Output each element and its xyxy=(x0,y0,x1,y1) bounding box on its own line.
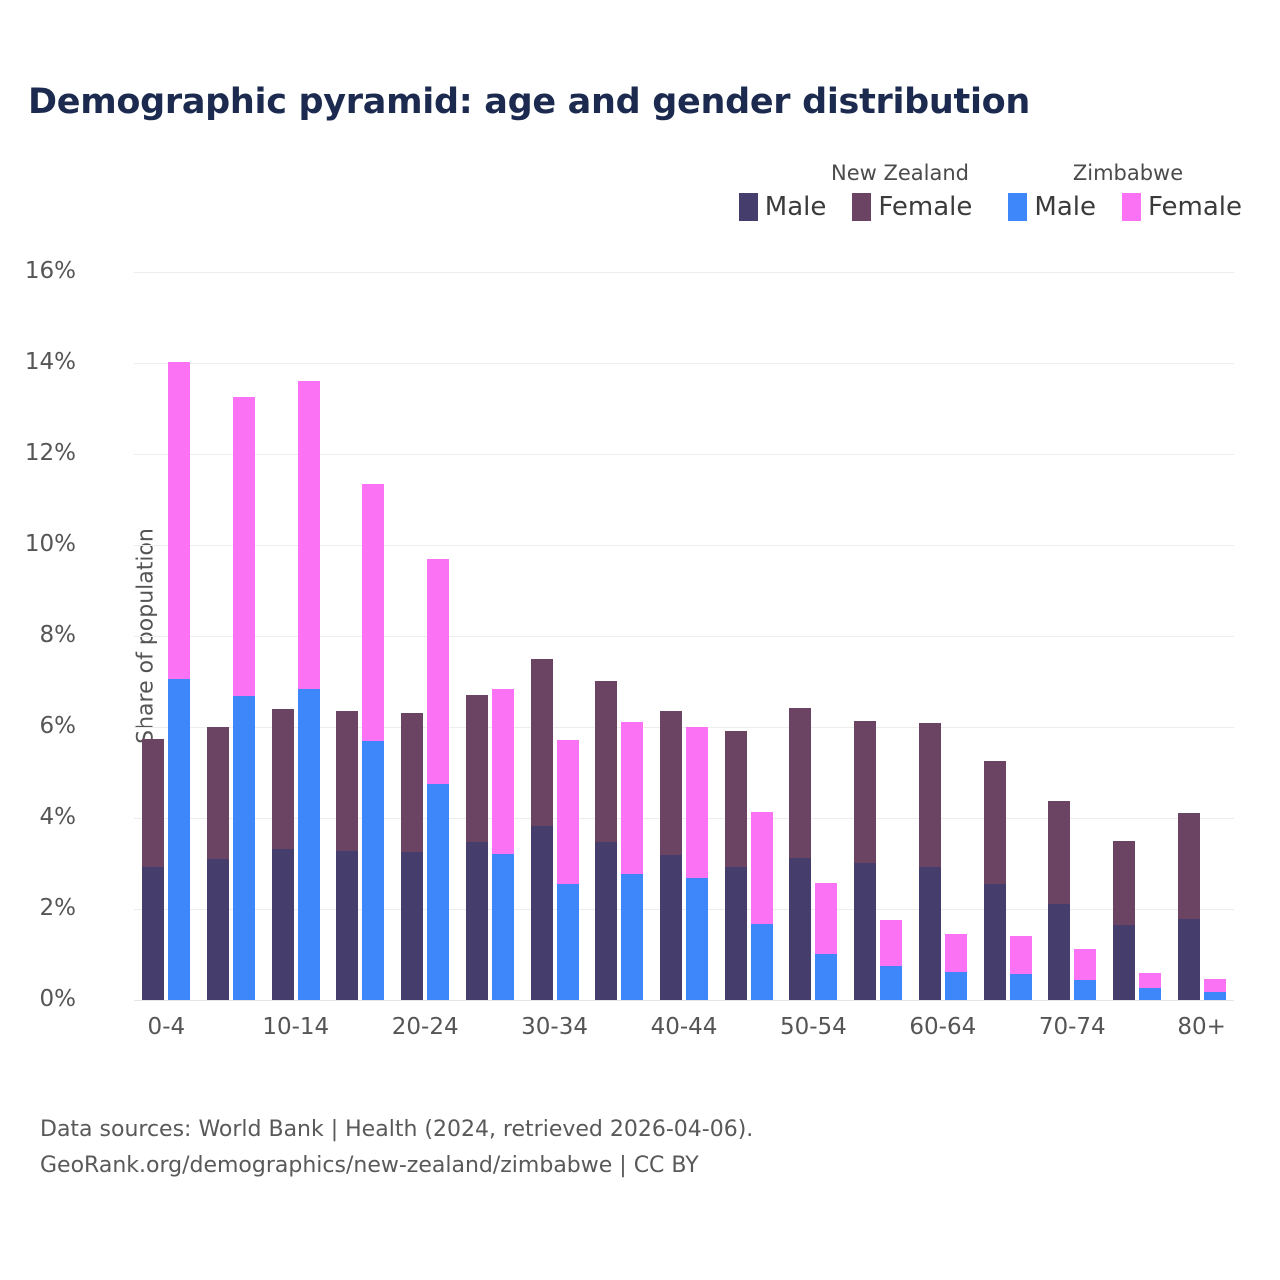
bar-segment-female xyxy=(531,659,553,826)
bar-new-zealand[interactable] xyxy=(272,709,294,1000)
bar-group[interactable] xyxy=(207,272,255,1000)
y-axis-tick-label: 4% xyxy=(0,804,76,830)
bar-zimbabwe[interactable] xyxy=(751,812,773,1000)
bar-zimbabwe[interactable] xyxy=(492,689,514,1000)
bar-group[interactable] xyxy=(401,272,449,1000)
bar-zimbabwe[interactable] xyxy=(1010,936,1032,1000)
legend-label: Male xyxy=(765,194,827,220)
legend-group-title-zimbabwe: Zimbabwe xyxy=(1014,161,1242,185)
bar-new-zealand[interactable] xyxy=(595,681,617,1000)
bar-new-zealand[interactable] xyxy=(336,711,358,1000)
chart-legend: New Zealand Zimbabwe Male Female Male Fe… xyxy=(739,155,1242,221)
footer-line-sources: Data sources: World Bank | Health (2024,… xyxy=(40,1112,753,1148)
bar-segment-female xyxy=(919,723,941,867)
bar-new-zealand[interactable] xyxy=(854,721,876,1000)
legend-item-zw-male[interactable]: Male xyxy=(1008,193,1096,221)
bar-segment-female xyxy=(168,362,190,679)
bar-segment-female xyxy=(789,708,811,857)
bar-group[interactable] xyxy=(336,272,384,1000)
bar-segment-male xyxy=(984,884,1006,1000)
legend-label: Female xyxy=(878,194,972,220)
x-axis-tick-label: 50-54 xyxy=(780,1014,847,1040)
bar-zimbabwe[interactable] xyxy=(880,920,902,1000)
bar-segment-male xyxy=(725,867,747,1000)
legend-item-nz-female[interactable]: Female xyxy=(852,193,972,221)
legend-label: Male xyxy=(1034,194,1096,220)
bar-segment-male xyxy=(815,954,837,1000)
page-title: Demographic pyramid: age and gender dist… xyxy=(28,82,1030,122)
footer-line-license[interactable]: GeoRank.org/demographics/new-zealand/zim… xyxy=(40,1148,753,1184)
bar-segment-male xyxy=(1139,988,1161,1000)
bar-segment-male xyxy=(207,859,229,1001)
bar-segment-male xyxy=(362,741,384,1000)
bar-segment-male xyxy=(427,784,449,1000)
bar-new-zealand[interactable] xyxy=(142,739,164,1000)
bar-group[interactable] xyxy=(1113,272,1161,1000)
y-axis-tick-label: 12% xyxy=(0,440,76,466)
bar-group[interactable] xyxy=(725,272,773,1000)
bar-zimbabwe[interactable] xyxy=(686,727,708,1000)
y-axis-tick-label: 14% xyxy=(0,349,76,375)
bar-segment-male xyxy=(919,867,941,1000)
bar-segment-male xyxy=(789,858,811,1000)
bar-segment-female xyxy=(233,397,255,696)
bar-segment-male xyxy=(168,679,190,1000)
bar-segment-female xyxy=(401,713,423,852)
bar-new-zealand[interactable] xyxy=(660,711,682,1000)
bar-zimbabwe[interactable] xyxy=(557,740,579,1000)
bar-zimbabwe[interactable] xyxy=(1139,973,1161,1000)
bar-segment-female xyxy=(466,695,488,842)
bar-segment-male xyxy=(854,863,876,1000)
bar-zimbabwe[interactable] xyxy=(945,934,967,1000)
bar-segment-male xyxy=(298,689,320,1000)
bar-new-zealand[interactable] xyxy=(1048,801,1070,1000)
x-axis-tick-label: 80+ xyxy=(1177,1014,1226,1040)
bar-segment-female xyxy=(880,920,902,966)
bar-segment-female xyxy=(336,711,358,851)
legend-swatch-icon xyxy=(739,193,758,221)
bar-group[interactable] xyxy=(789,272,837,1000)
bar-segment-male xyxy=(595,842,617,1000)
bar-zimbabwe[interactable] xyxy=(427,559,449,1000)
legend-group-title-new-zealand: New Zealand xyxy=(786,161,1014,185)
bar-segment-male xyxy=(621,874,643,1000)
bar-segment-male xyxy=(1178,919,1200,1000)
bar-segment-female xyxy=(945,934,967,972)
bar-zimbabwe[interactable] xyxy=(621,722,643,1000)
x-axis-tick-label: 10-14 xyxy=(262,1014,329,1040)
y-axis-tick-label: 8% xyxy=(0,622,76,648)
bar-group[interactable] xyxy=(466,272,514,1000)
bar-segment-male xyxy=(272,849,294,1000)
bar-segment-male xyxy=(686,878,708,1000)
bar-segment-female xyxy=(492,689,514,855)
bar-segment-female xyxy=(1048,801,1070,904)
bar-segment-female xyxy=(686,727,708,879)
x-axis-tick-label: 30-34 xyxy=(521,1014,588,1040)
bar-zimbabwe[interactable] xyxy=(298,381,320,1000)
chart-plot-area: Share of population 0%2%4%6%8%10%12%14%1… xyxy=(134,272,1234,1000)
bar-zimbabwe[interactable] xyxy=(168,362,190,1000)
bar-segment-male xyxy=(557,884,579,1000)
bar-new-zealand[interactable] xyxy=(984,761,1006,1000)
bar-segment-female xyxy=(725,731,747,867)
bar-segment-female xyxy=(362,484,384,742)
bar-segment-female xyxy=(272,709,294,849)
y-axis-tick-label: 16% xyxy=(0,258,76,284)
bar-zimbabwe[interactable] xyxy=(362,484,384,1000)
bar-segment-female xyxy=(984,761,1006,884)
bar-new-zealand[interactable] xyxy=(1113,841,1135,1000)
bar-segment-male xyxy=(1048,904,1070,1000)
bar-segment-female xyxy=(1139,973,1161,988)
bar-segment-male xyxy=(1113,925,1135,1000)
bar-group[interactable] xyxy=(984,272,1032,1000)
legend-items: Male Female Male Female xyxy=(739,193,1242,221)
bar-new-zealand[interactable] xyxy=(207,727,229,1000)
x-axis-tick-label: 40-44 xyxy=(651,1014,718,1040)
bar-new-zealand[interactable] xyxy=(789,708,811,1000)
legend-swatch-icon xyxy=(852,193,871,221)
bar-segment-female xyxy=(298,381,320,689)
footer-attribution: Data sources: World Bank | Health (2024,… xyxy=(40,1112,753,1185)
bar-new-zealand[interactable] xyxy=(919,723,941,1000)
bar-zimbabwe[interactable] xyxy=(1204,979,1226,1000)
bar-segment-male xyxy=(1074,980,1096,1000)
bar-segment-female xyxy=(815,883,837,954)
bar-group[interactable] xyxy=(1178,272,1226,1000)
bar-zimbabwe[interactable] xyxy=(233,397,255,1000)
bar-segment-female xyxy=(660,711,682,855)
bar-group[interactable] xyxy=(919,272,967,1000)
bar-zimbabwe[interactable] xyxy=(1074,949,1096,1000)
bar-zimbabwe[interactable] xyxy=(815,883,837,1000)
y-axis-tick-label: 6% xyxy=(0,713,76,739)
bar-group[interactable] xyxy=(1048,272,1096,1000)
bar-segment-male xyxy=(880,966,902,1000)
bar-segment-female xyxy=(142,739,164,867)
x-axis-tick-label: 20-24 xyxy=(392,1014,459,1040)
gridline xyxy=(134,1000,1234,1001)
legend-swatch-icon xyxy=(1008,193,1027,221)
bar-segment-male xyxy=(945,972,967,1000)
y-axis-tick-label: 0% xyxy=(0,986,76,1012)
bar-group[interactable] xyxy=(531,272,579,1000)
bar-segment-female xyxy=(557,740,579,883)
bar-segment-male xyxy=(142,867,164,1000)
bar-segment-male xyxy=(401,852,423,1000)
bar-segment-female xyxy=(1178,813,1200,919)
bar-segment-female xyxy=(1010,936,1032,974)
legend-group-titles: New Zealand Zimbabwe xyxy=(739,155,1242,185)
bar-segment-male xyxy=(492,854,514,1000)
bar-segment-male xyxy=(751,924,773,1000)
bar-segment-male xyxy=(660,855,682,1000)
bar-segment-female xyxy=(427,559,449,784)
bar-group[interactable] xyxy=(660,272,708,1000)
bar-segment-male xyxy=(466,842,488,1000)
bar-group[interactable] xyxy=(854,272,902,1000)
bar-new-zealand[interactable] xyxy=(466,695,488,1000)
bar-group[interactable] xyxy=(142,272,190,1000)
bar-segment-female xyxy=(1113,841,1135,926)
bar-segment-male xyxy=(336,851,358,1000)
bar-segment-male xyxy=(1204,992,1226,1000)
bar-new-zealand[interactable] xyxy=(531,659,553,1000)
bar-segment-male xyxy=(531,826,553,1000)
y-axis-tick-label: 2% xyxy=(0,895,76,921)
bar-segment-female xyxy=(751,812,773,924)
bar-segment-male xyxy=(233,696,255,1000)
bar-segment-female xyxy=(207,727,229,858)
x-axis-tick-label: 70-74 xyxy=(1039,1014,1106,1040)
bar-segment-female xyxy=(621,722,643,875)
x-axis-tick-label: 60-64 xyxy=(909,1014,976,1040)
legend-label: Female xyxy=(1148,194,1242,220)
bar-segment-female xyxy=(595,681,617,842)
legend-swatch-icon xyxy=(1122,193,1141,221)
bar-new-zealand[interactable] xyxy=(725,731,747,1000)
bar-segment-female xyxy=(854,721,876,863)
legend-item-zw-female[interactable]: Female xyxy=(1122,193,1242,221)
bar-segment-male xyxy=(1010,974,1032,1000)
bar-group[interactable] xyxy=(272,272,320,1000)
bar-group[interactable] xyxy=(595,272,643,1000)
bar-new-zealand[interactable] xyxy=(401,713,423,1000)
bar-new-zealand[interactable] xyxy=(1178,813,1200,1000)
legend-item-nz-male[interactable]: Male xyxy=(739,193,827,221)
y-axis-tick-label: 10% xyxy=(0,531,76,557)
bar-segment-female xyxy=(1204,979,1226,993)
bar-segment-female xyxy=(1074,949,1096,980)
x-axis-tick-label: 0-4 xyxy=(148,1014,186,1040)
